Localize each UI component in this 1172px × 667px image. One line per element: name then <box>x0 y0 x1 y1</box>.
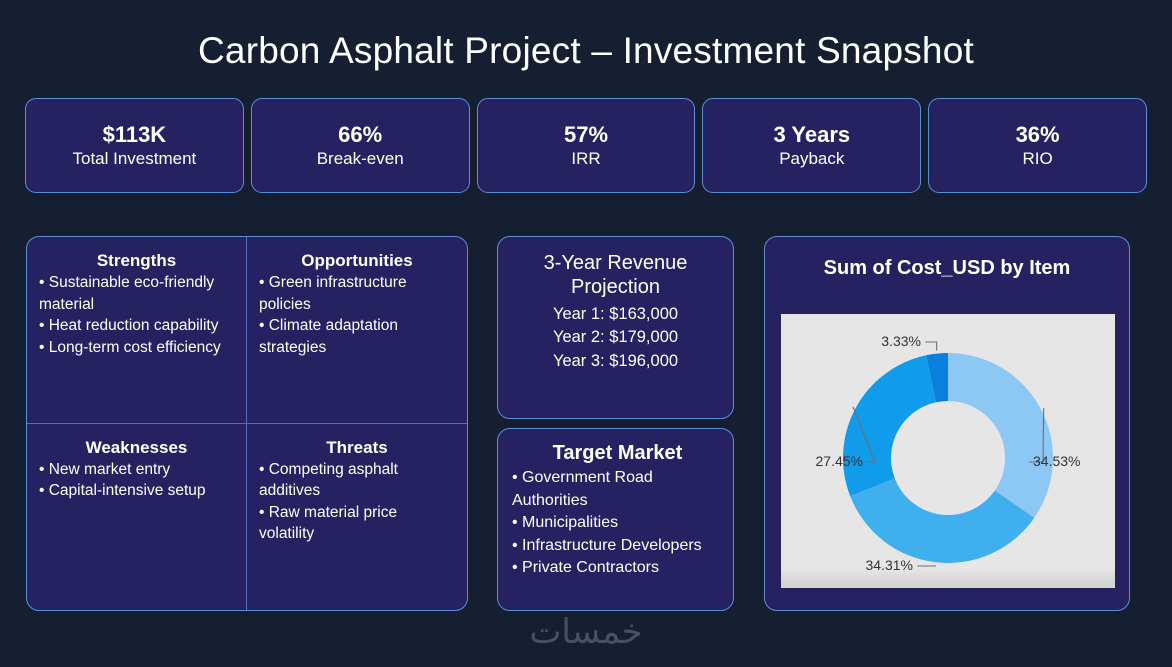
list-item: • Government Road Authorities <box>512 467 723 512</box>
kpi-value: 57% <box>564 122 608 147</box>
list-item: • Competing asphalt additives <box>259 459 455 502</box>
donut-slice[interactable] <box>843 355 936 496</box>
list-item: • Green infrastructure policies <box>259 272 455 315</box>
swot-title: Opportunities <box>259 251 455 271</box>
revenue-projection-card[interactable]: 3-Year Revenue Projection Year 1: $163,0… <box>497 236 734 419</box>
kpi-card-payback[interactable]: 3 Years Payback <box>702 98 921 193</box>
list-item: • Sustainable eco-friendly material <box>39 272 234 315</box>
list-item: • Long-term cost efficiency <box>39 337 234 358</box>
list-item: • Climate adaptation strategies <box>259 315 455 358</box>
swot-title: Weaknesses <box>39 438 234 458</box>
swot-title: Strengths <box>39 251 234 271</box>
revenue-title: 3-Year Revenue Projection <box>508 251 723 300</box>
watermark: خمسات <box>0 612 1172 652</box>
list-item: • Heat reduction capability <box>39 315 234 336</box>
swot-quadrant-opportunities[interactable]: Opportunities • Green infrastructure pol… <box>247 237 467 424</box>
revenue-year-3: Year 3: $196,000 <box>508 350 723 374</box>
swot-card: Strengths • Sustainable eco-friendly mat… <box>26 236 468 611</box>
list-item: • Capital-intensive setup <box>39 480 234 501</box>
revenue-year-2: Year 2: $179,000 <box>508 326 723 350</box>
target-market-title: Target Market <box>512 441 723 465</box>
swot-quadrant-weaknesses[interactable]: Weaknesses • New market entry • Capital-… <box>27 424 247 611</box>
kpi-row: $113K Total Investment 66% Break-even 57… <box>25 98 1147 193</box>
kpi-value: 36% <box>1016 122 1060 147</box>
kpi-value: $113K <box>103 122 167 147</box>
leader-line <box>925 342 937 351</box>
swot-list: • Competing asphalt additives • Raw mate… <box>259 459 455 545</box>
kpi-card-break-even[interactable]: 66% Break-even <box>251 98 470 193</box>
kpi-value: 3 Years <box>773 122 850 147</box>
kpi-value: 66% <box>338 122 382 147</box>
donut-slices <box>843 353 1053 563</box>
kpi-label: RIO <box>1022 149 1052 169</box>
donut-label-left: 27.45% <box>816 453 863 469</box>
kpi-card-rio[interactable]: 36% RIO <box>928 98 1147 193</box>
list-item: • Private Contractors <box>512 557 723 580</box>
kpi-label: Payback <box>779 149 844 169</box>
revenue-year-1: Year 1: $163,000 <box>508 303 723 327</box>
swot-quadrant-strengths[interactable]: Strengths • Sustainable eco-friendly mat… <box>27 237 247 424</box>
list-item: • New market entry <box>39 459 234 480</box>
swot-list: • Sustainable eco-friendly material • He… <box>39 272 234 358</box>
donut-label-right: 34.53% <box>1033 453 1080 469</box>
donut-slice[interactable] <box>948 353 1053 518</box>
donut-chart[interactable]: 34.53% 34.31% 27.45% 3.33% <box>781 314 1115 588</box>
kpi-label: Total Investment <box>73 149 197 169</box>
kpi-card-total-investment[interactable]: $113K Total Investment <box>25 98 244 193</box>
chart-plot-area: 34.53% 34.31% 27.45% 3.33% <box>781 314 1115 588</box>
kpi-label: IRR <box>571 149 600 169</box>
chart-card: Sum of Cost_USD by Item 34.53% 34.31% 27… <box>764 236 1130 611</box>
swot-quadrant-threats[interactable]: Threats • Competing asphalt additives • … <box>247 424 467 611</box>
chart-title: Sum of Cost_USD by Item <box>765 257 1129 280</box>
list-item: • Infrastructure Developers <box>512 535 723 558</box>
target-market-list: • Government Road Authorities • Municipa… <box>512 467 723 580</box>
swot-list: • New market entry • Capital-intensive s… <box>39 459 234 502</box>
leader-line <box>917 565 935 566</box>
target-market-card[interactable]: Target Market • Government Road Authorit… <box>497 428 734 611</box>
kpi-label: Break-even <box>317 149 404 169</box>
kpi-card-irr[interactable]: 57% IRR <box>477 98 696 193</box>
slide-root: Carbon Asphalt Project – Investment Snap… <box>0 0 1172 667</box>
list-item: • Municipalities <box>512 512 723 535</box>
donut-label-top: 3.33% <box>881 333 921 349</box>
list-item: • Raw material price volatility <box>259 502 455 545</box>
swot-list: • Green infrastructure policies • Climat… <box>259 272 455 358</box>
swot-title: Threats <box>259 438 455 458</box>
page-title: Carbon Asphalt Project – Investment Snap… <box>0 30 1172 72</box>
donut-label-bottom: 34.31% <box>866 557 913 573</box>
